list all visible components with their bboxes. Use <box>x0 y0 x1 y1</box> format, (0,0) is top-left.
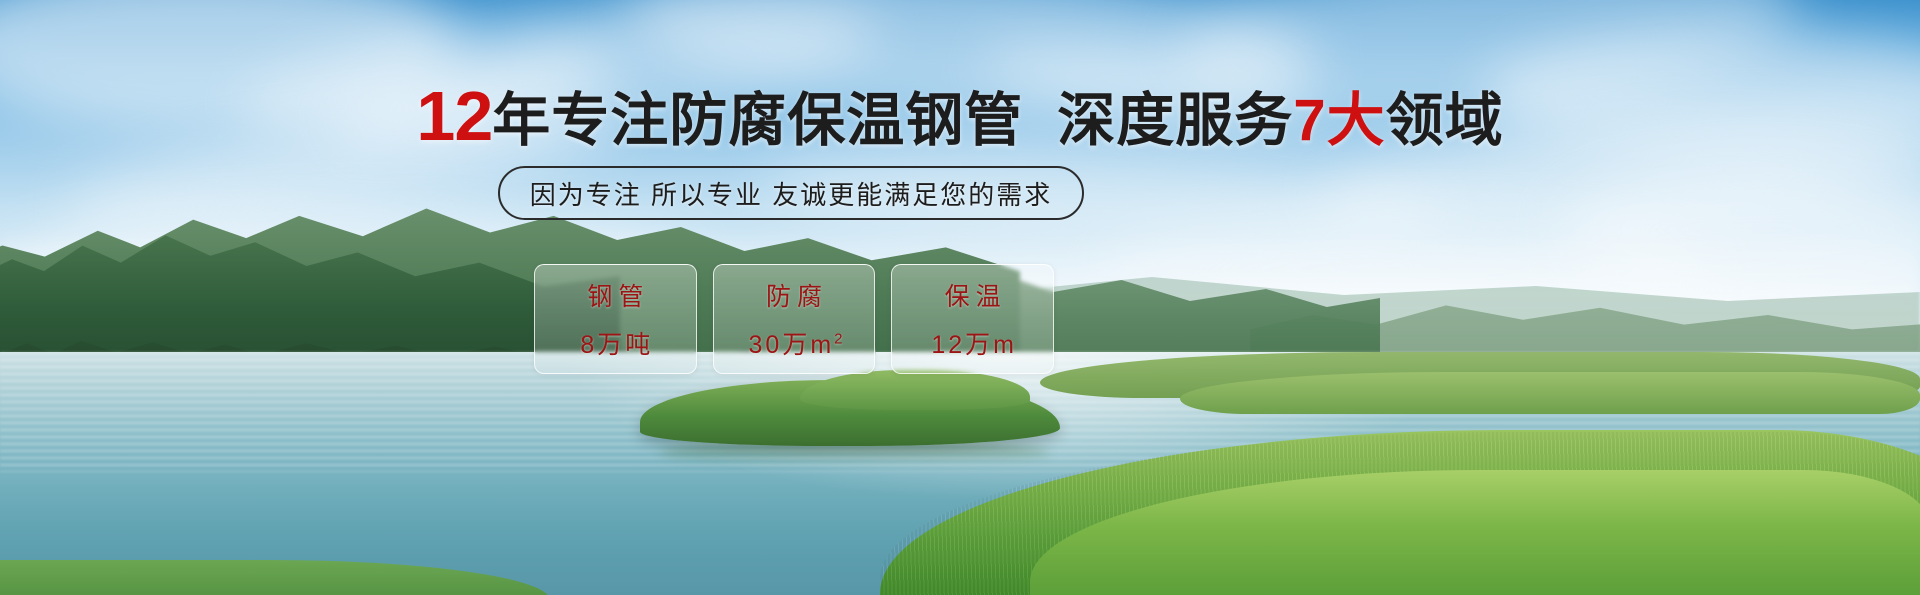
stat-card-title: 保温 <box>939 277 1007 313</box>
hero-banner: 12年专注防腐保温钢管深度服务7大领域 因为专注 所以专业 友诚更能满足您的需求… <box>0 0 1920 595</box>
stat-card-anticorrosion: 防腐 30万m2 <box>713 264 876 374</box>
stat-card-value-exponent: 2 <box>834 331 842 348</box>
stat-card-insulation: 保温 12万m <box>891 264 1054 374</box>
headline-highlight: 7大 <box>1293 88 1385 153</box>
stat-card-value-text: 12万m <box>931 331 1017 359</box>
page-title: 12年专注防腐保温钢管深度服务7大领域 <box>0 84 1920 153</box>
headline-part-1: 年专注防腐保温钢管 <box>492 88 1023 153</box>
stat-card-value-text: 8万吨 <box>580 331 653 359</box>
stat-card-group: 钢管 8万吨 防腐 30万m2 保温 12万m <box>534 264 1054 374</box>
subtitle-text: 因为专注 所以专业 友诚更能满足您的需求 <box>530 175 1052 212</box>
stat-card-value: 12万m <box>928 325 1017 361</box>
stat-card-value: 30万m2 <box>746 325 843 361</box>
marsh-near <box>1180 372 1920 414</box>
stat-card-title: 钢管 <box>581 277 649 313</box>
subtitle-pill: 因为专注 所以专业 友诚更能满足您的需求 <box>498 166 1084 220</box>
stat-card-value: 8万吨 <box>577 325 653 361</box>
headline-number: 12 <box>416 77 492 155</box>
headline-part-3: 领域 <box>1386 88 1504 153</box>
stat-card-steel-pipe: 钢管 8万吨 <box>534 264 697 374</box>
stat-card-value-text: 30万m <box>749 331 835 359</box>
headline-part-2: 深度服务 <box>1057 88 1293 153</box>
stat-card-title: 防腐 <box>760 277 828 313</box>
